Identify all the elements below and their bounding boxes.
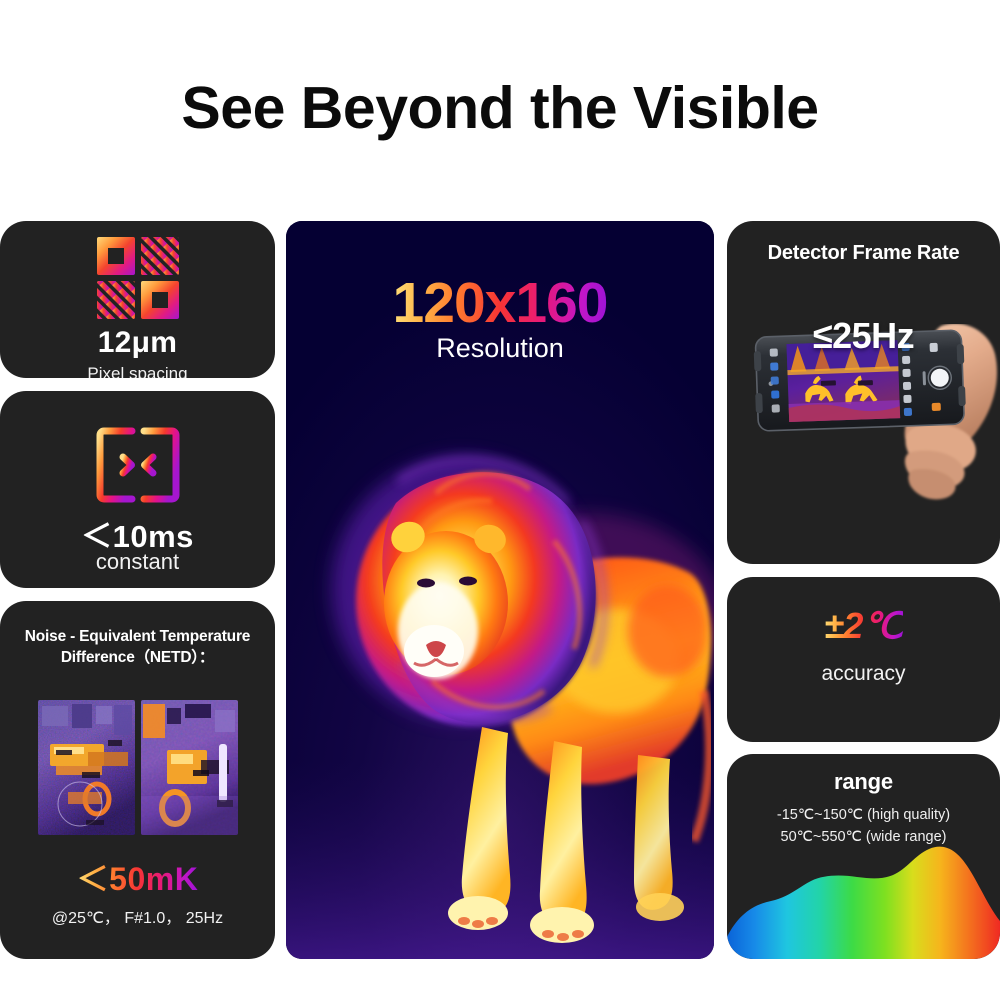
- card-netd: Noise - Equivalent Temperature Differenc…: [0, 601, 275, 959]
- hero-resolution: 120x160: [286, 270, 714, 336]
- pixel-spacing-label: Pixel spacing: [0, 364, 275, 378]
- card-constant-latency: ＜10ms constant: [0, 391, 275, 588]
- frame-rate-value: ≤25Hz: [727, 315, 1000, 357]
- frame-rate-title: Detector Frame Rate: [727, 242, 1000, 265]
- hero-panel: 120x160 Resolution: [286, 221, 714, 959]
- latency-label: constant: [0, 549, 275, 575]
- page-title: See Beyond the Visible: [0, 74, 1000, 142]
- hero-resolution-text: 120x160: [393, 270, 608, 336]
- accuracy-value-text: ±2℃: [824, 605, 903, 647]
- card-accuracy: ±2℃ accuracy: [727, 577, 1000, 742]
- netd-value-text: ＜50mK: [77, 854, 199, 900]
- accuracy-label: accuracy: [727, 662, 1000, 686]
- spectrum-range-curve: [727, 839, 1000, 959]
- thermal-sample-clean: [141, 700, 238, 835]
- hero-resolution-label: Resolution: [286, 333, 714, 364]
- pixel-spacing-value: 12μm: [0, 326, 275, 360]
- netd-value: ＜50mK: [0, 854, 275, 900]
- accuracy-value: ±2℃: [727, 605, 1000, 647]
- netd-title: Noise - Equivalent Temperature Differenc…: [8, 626, 267, 668]
- pixel-grid-icon: [97, 237, 179, 319]
- netd-conditions: @25℃， F#1.0， 25Hz: [0, 904, 275, 928]
- latency-brackets-icon: [96, 427, 180, 503]
- range-title: range: [727, 769, 1000, 795]
- netd-title-line1: Noise - Equivalent Temperature: [25, 628, 250, 645]
- range-line-high-quality: -15℃~150℃ (high quality): [727, 804, 1000, 826]
- netd-title-line2: Difference（NETD）：: [61, 649, 214, 666]
- card-frame-rate: Detector Frame Rate ≤25Hz: [727, 221, 1000, 564]
- thermal-sample-noisy: [38, 700, 135, 835]
- card-range: range -15℃~150℃ (high quality) 50℃~550℃ …: [727, 754, 1000, 959]
- netd-comparison-images: [38, 700, 238, 835]
- card-pixel-spacing: 12μm Pixel spacing: [0, 221, 275, 378]
